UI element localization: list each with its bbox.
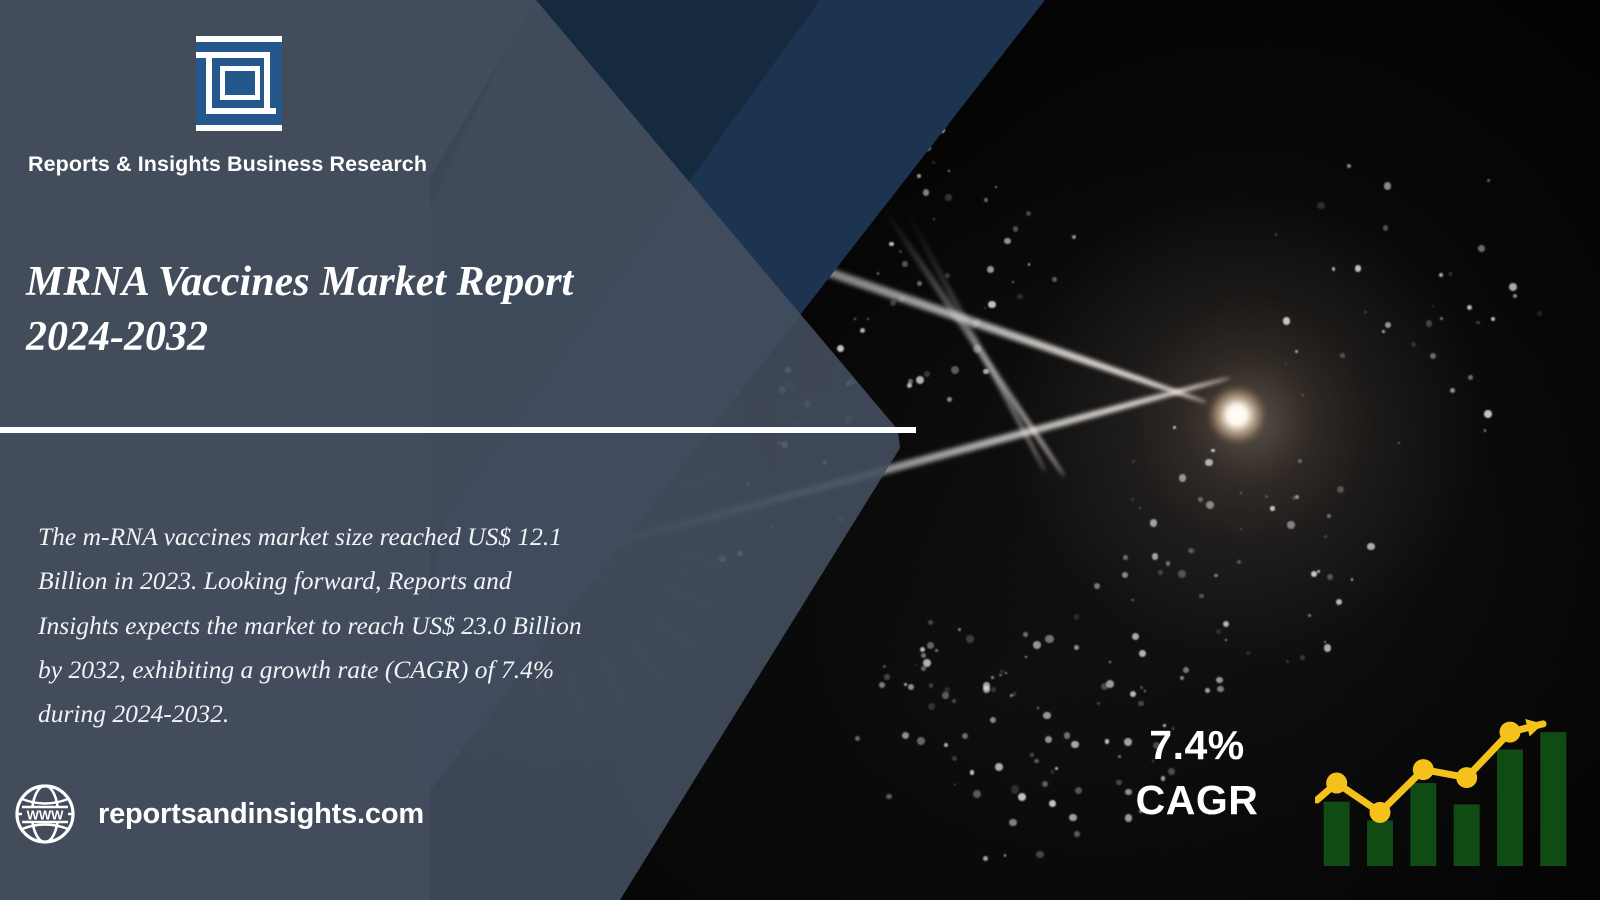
particle xyxy=(921,666,926,671)
particle xyxy=(904,683,907,686)
particle xyxy=(966,635,974,643)
particle xyxy=(1487,179,1490,182)
particle xyxy=(954,784,956,786)
particle xyxy=(1105,739,1109,743)
particle xyxy=(984,198,988,202)
particle xyxy=(1045,736,1052,743)
particle xyxy=(1440,317,1443,320)
particle xyxy=(999,674,1002,677)
particle xyxy=(1033,641,1041,649)
particle xyxy=(1484,429,1487,432)
particle xyxy=(1179,474,1187,482)
particle xyxy=(1324,535,1327,538)
particle xyxy=(1028,263,1031,266)
particle xyxy=(952,756,957,761)
particle xyxy=(1355,265,1362,272)
particle xyxy=(1138,701,1144,707)
particle xyxy=(1285,363,1287,365)
particle xyxy=(917,281,922,286)
particle xyxy=(983,856,988,861)
particle xyxy=(1051,770,1055,774)
particle xyxy=(1005,672,1007,674)
particle xyxy=(1152,553,1159,560)
particle xyxy=(924,371,931,378)
particle xyxy=(1183,667,1189,673)
website-url[interactable]: reportsandinsights.com xyxy=(98,798,424,831)
particle xyxy=(929,683,933,687)
particle xyxy=(1478,245,1485,252)
particle xyxy=(952,699,956,703)
particle xyxy=(995,763,1003,771)
particle xyxy=(1198,497,1203,502)
particle xyxy=(1367,543,1374,550)
particle xyxy=(1013,692,1016,695)
particle xyxy=(1449,272,1453,276)
particle xyxy=(928,620,933,625)
particle xyxy=(907,383,912,388)
particle xyxy=(1036,851,1043,858)
particle xyxy=(973,790,981,798)
particle xyxy=(1513,294,1517,298)
particle xyxy=(1055,767,1058,770)
particle xyxy=(1439,273,1443,277)
particle xyxy=(1364,311,1367,314)
particle xyxy=(1317,202,1325,210)
particle xyxy=(1049,800,1056,807)
particle xyxy=(991,687,996,692)
particle xyxy=(1450,388,1456,394)
particle xyxy=(1037,707,1039,709)
particle xyxy=(1385,322,1391,328)
particle xyxy=(1476,321,1480,325)
particle xyxy=(1178,570,1186,578)
particle xyxy=(1017,294,1022,299)
chart-bar xyxy=(1410,783,1436,866)
particle xyxy=(902,732,910,740)
particle xyxy=(1491,317,1495,321)
chart-bar xyxy=(1454,804,1480,866)
particle xyxy=(1012,281,1015,284)
particle xyxy=(1045,635,1053,643)
particle xyxy=(886,794,892,800)
particle xyxy=(1000,670,1004,674)
particle xyxy=(1317,570,1320,573)
particle xyxy=(945,273,950,278)
infographic-canvas: Reports & Insights Business Research MRN… xyxy=(0,0,1600,900)
chart-line-marker xyxy=(1413,759,1434,780)
cagr-label: CAGR xyxy=(1124,773,1270,828)
particle xyxy=(1132,633,1139,640)
particle xyxy=(962,733,968,739)
particle xyxy=(1283,317,1291,325)
particle xyxy=(1118,755,1121,758)
particle xyxy=(920,647,925,652)
particle xyxy=(1270,506,1275,511)
particle xyxy=(991,676,994,679)
particle xyxy=(1216,677,1222,683)
particle xyxy=(973,345,981,353)
particle xyxy=(1324,641,1326,643)
particle xyxy=(1064,732,1070,738)
particle xyxy=(928,703,935,710)
particle xyxy=(1217,686,1224,693)
particle xyxy=(889,242,893,246)
particle xyxy=(1071,741,1079,749)
particle xyxy=(1336,599,1342,605)
particle xyxy=(1023,632,1028,637)
particle xyxy=(1131,599,1134,602)
particle xyxy=(1009,819,1017,827)
particle xyxy=(860,328,865,333)
particle xyxy=(1351,578,1354,581)
particle xyxy=(1211,449,1214,452)
growth-chart xyxy=(1315,698,1575,873)
chart-bar xyxy=(1540,732,1566,866)
particle xyxy=(877,272,880,275)
title-divider xyxy=(0,427,916,433)
particle xyxy=(899,296,905,302)
particle xyxy=(958,628,961,631)
particle xyxy=(1275,233,1278,236)
particle xyxy=(917,174,922,179)
particle xyxy=(1411,342,1416,347)
particle xyxy=(1025,656,1027,658)
particle xyxy=(1013,226,1019,232)
particle xyxy=(988,301,995,308)
particle xyxy=(899,250,902,253)
particle xyxy=(1004,238,1011,245)
particle xyxy=(855,736,861,742)
particle xyxy=(1384,182,1392,190)
page-title: MRNA Vaccines Market Report 2024-2032 xyxy=(26,255,726,366)
particle xyxy=(923,189,930,196)
particle xyxy=(1265,495,1268,498)
brand-name: Reports & Insights Business Research xyxy=(28,152,427,177)
particle xyxy=(1139,507,1141,509)
particle xyxy=(1074,614,1080,620)
particle xyxy=(983,369,989,375)
particle xyxy=(1116,780,1121,785)
page-title-line-2: 2024-2032 xyxy=(26,314,208,360)
particle xyxy=(884,674,890,680)
particle xyxy=(1292,496,1297,501)
particle xyxy=(1140,686,1143,689)
particle xyxy=(987,266,994,273)
particle xyxy=(1216,629,1221,634)
particle xyxy=(1094,583,1100,589)
particle xyxy=(1298,459,1302,463)
particle xyxy=(1324,644,1332,652)
particle xyxy=(1537,311,1542,316)
particle xyxy=(945,194,951,200)
particle xyxy=(1383,225,1389,231)
chart-bar xyxy=(1367,821,1393,867)
particle xyxy=(984,307,986,309)
particle xyxy=(837,345,844,352)
particle xyxy=(1332,267,1336,271)
particle xyxy=(1432,305,1435,308)
particle xyxy=(1426,320,1433,327)
particle xyxy=(971,321,978,328)
footer: WWW reportsandinsights.com xyxy=(14,783,424,845)
particle xyxy=(921,653,926,658)
particle xyxy=(1072,235,1076,239)
nested-square-logo-icon xyxy=(196,36,282,131)
chart-line-marker xyxy=(1326,773,1347,794)
particle xyxy=(970,770,974,774)
particle xyxy=(1004,854,1006,856)
particle xyxy=(854,318,856,320)
particle xyxy=(990,717,996,723)
particle xyxy=(1340,353,1344,357)
particle xyxy=(1139,650,1146,657)
particle xyxy=(1158,570,1164,576)
particle xyxy=(890,300,896,306)
cagr-badge: 7.4% CAGR xyxy=(1124,718,1270,828)
particle xyxy=(1074,645,1079,650)
particle xyxy=(1150,519,1158,527)
particle xyxy=(1225,639,1227,641)
particle xyxy=(1097,702,1100,705)
particle xyxy=(927,642,934,649)
chart-line-marker xyxy=(1456,767,1477,788)
particle xyxy=(883,665,886,668)
particle xyxy=(1205,459,1213,467)
particle xyxy=(915,664,917,666)
particle xyxy=(995,186,997,188)
particle xyxy=(1074,831,1080,837)
particle xyxy=(1467,305,1472,310)
particle xyxy=(1382,330,1385,333)
particle xyxy=(1043,712,1050,719)
particle xyxy=(942,692,948,698)
chart-line-marker xyxy=(1370,802,1391,823)
particle xyxy=(1237,560,1241,564)
particle xyxy=(1337,486,1344,493)
report-summary: The m-RNA vaccines market size reached U… xyxy=(38,515,583,737)
particle xyxy=(1308,614,1311,617)
particle xyxy=(902,261,908,267)
particle xyxy=(867,318,869,320)
particle xyxy=(1034,759,1039,764)
particle xyxy=(1109,661,1111,663)
particle xyxy=(947,397,952,402)
particle xyxy=(1295,350,1298,353)
particle xyxy=(1166,561,1171,566)
particle xyxy=(1106,680,1114,688)
particle xyxy=(1327,514,1332,519)
particle xyxy=(1026,211,1032,217)
particle xyxy=(1302,394,1304,396)
particle xyxy=(917,737,925,745)
particle xyxy=(1246,651,1251,656)
cagr-value: 7.4% xyxy=(1124,718,1270,773)
particle xyxy=(1131,498,1134,501)
particle xyxy=(1173,426,1176,429)
particle xyxy=(1011,785,1019,793)
particle xyxy=(1286,660,1289,663)
particle xyxy=(933,218,935,220)
particle xyxy=(1199,594,1204,599)
particle xyxy=(932,161,935,164)
particle xyxy=(1130,691,1136,697)
page-title-line-1: MRNA Vaccines Market Report xyxy=(26,259,573,305)
particle xyxy=(951,366,959,374)
particle xyxy=(879,682,885,688)
particle xyxy=(1468,375,1473,380)
particle xyxy=(1205,688,1211,694)
growth-chart-svg xyxy=(1315,698,1575,873)
particle xyxy=(1430,353,1436,359)
chart-bar xyxy=(1497,750,1523,867)
particle xyxy=(1509,283,1517,291)
particle xyxy=(908,684,914,690)
particle xyxy=(1122,572,1128,578)
particle xyxy=(1287,521,1295,529)
particle xyxy=(1484,410,1492,418)
particle xyxy=(1132,460,1135,463)
particle xyxy=(1018,793,1026,801)
particle xyxy=(1398,442,1400,444)
particle xyxy=(1123,555,1128,560)
particle xyxy=(1069,814,1077,822)
particle xyxy=(1144,690,1146,692)
particle xyxy=(1240,492,1242,494)
particle xyxy=(1030,753,1034,757)
particle xyxy=(1052,277,1057,282)
globe-www-icon: WWW xyxy=(14,783,76,845)
particle xyxy=(1042,781,1048,787)
particle xyxy=(1214,574,1217,577)
particle xyxy=(1327,574,1333,580)
particle xyxy=(1206,501,1214,509)
particle xyxy=(1010,694,1013,697)
particle xyxy=(948,170,950,172)
svg-text:WWW: WWW xyxy=(27,808,65,823)
particle xyxy=(1075,787,1082,794)
particle xyxy=(959,248,961,250)
particle xyxy=(944,743,948,747)
particle xyxy=(1240,528,1242,530)
particle xyxy=(1180,676,1184,680)
particle xyxy=(1347,164,1351,168)
chart-bar xyxy=(1324,802,1350,866)
particle xyxy=(983,682,991,690)
particle xyxy=(916,376,924,384)
particle xyxy=(1300,655,1306,661)
particle xyxy=(935,649,938,652)
particle xyxy=(1223,621,1230,628)
